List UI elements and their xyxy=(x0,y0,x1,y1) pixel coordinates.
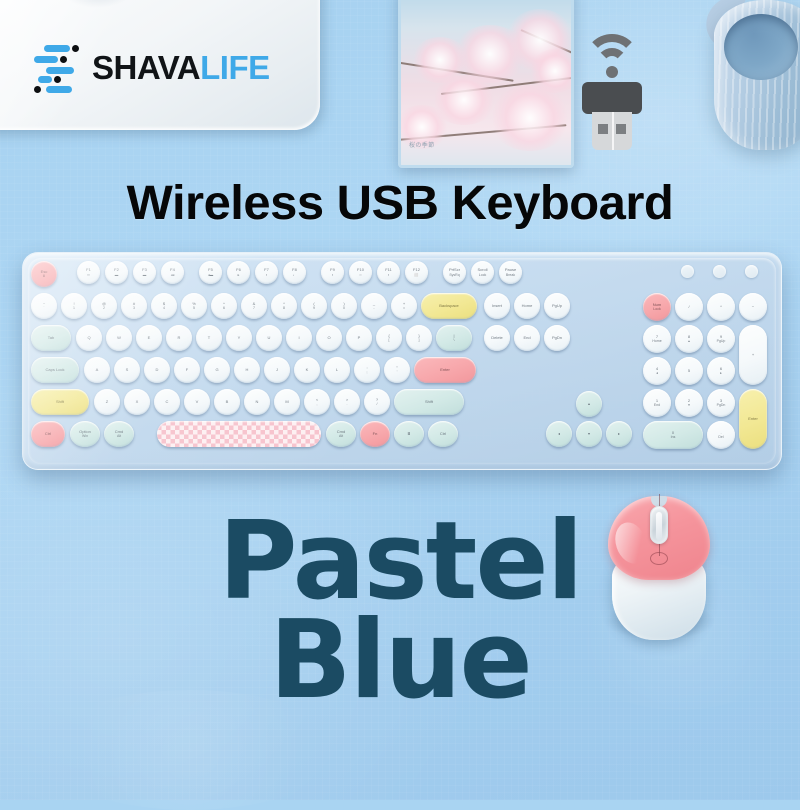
keycap-sublabel: Lock xyxy=(653,307,660,311)
key-n[interactable]: N xyxy=(244,389,270,415)
sakura-blossom xyxy=(489,85,571,151)
keycap-sublabel: 3 xyxy=(133,306,135,310)
key-tab[interactable]: Tab xyxy=(31,325,71,351)
key-k[interactable]: K xyxy=(294,357,320,383)
keycap-sublabel: 5 xyxy=(193,306,195,310)
numpad-key-num[interactable]: NumLock xyxy=(643,293,671,321)
keycap-label: R xyxy=(178,336,181,341)
dongle-pin-left xyxy=(598,124,608,134)
wireless-keyboard: Esc⬇F1▪▪F2▬F3▬F4◂◂F5◂▬F6▸F7▪F8♩F9▪F10▫▫F… xyxy=(22,252,782,470)
key-caps-lock[interactable]: Caps Lock xyxy=(31,357,79,383)
keycap-label: PgDn xyxy=(552,336,562,341)
keycap-label: F xyxy=(186,368,188,373)
keycap-sublabel: - xyxy=(373,306,374,310)
keycap-sublabel: ▪ xyxy=(266,273,267,277)
key-q[interactable]: Q xyxy=(76,325,102,351)
key-f12[interactable]: F12⬜ xyxy=(405,261,428,284)
keycap-sublabel: = xyxy=(403,306,405,310)
keycap-label: Backspace xyxy=(439,304,459,309)
keycap-label: W xyxy=(117,336,121,341)
keycap-label: / xyxy=(688,305,689,310)
keycap-label: V xyxy=(196,400,199,405)
keycap-sublabel: ▾ xyxy=(688,403,690,407)
numpad-key-key[interactable]: + xyxy=(739,325,767,385)
keycap-sublabel: ▫▫ xyxy=(359,273,361,277)
keycap-label: Tab xyxy=(48,336,54,341)
numpad-key-5[interactable]: 5 xyxy=(675,357,703,385)
keycap-sublabel: ⬜ xyxy=(414,273,418,277)
key-key[interactable]: )0 xyxy=(331,293,357,319)
keycap-label: S xyxy=(126,368,129,373)
key-key[interactable]: $4 xyxy=(151,293,177,319)
keycap-sublabel: ◂ xyxy=(656,371,658,375)
key-key[interactable]: ~` xyxy=(31,293,57,319)
keycap-label: Enter xyxy=(440,368,450,373)
keycap-sublabel: ` xyxy=(43,306,44,310)
keycap-label: ▾ xyxy=(588,432,590,437)
key-arrow-up[interactable]: ▴ xyxy=(576,391,602,417)
brand-name-primary: SHAVA xyxy=(92,49,200,86)
keycap-sublabel: 4 xyxy=(163,306,165,310)
key-f9[interactable]: F9▪ xyxy=(321,261,344,284)
wireless-usb-dongle-icon xyxy=(572,28,668,148)
key-key[interactable]: ?/ xyxy=(364,389,390,415)
keycap-sublabel: Ins xyxy=(671,435,676,439)
key-arrow-down[interactable]: ▾ xyxy=(576,421,602,447)
keycap-label: PgUp xyxy=(552,304,562,309)
numpad-key-0[interactable]: 0Ins xyxy=(643,421,703,449)
keycap-sublabel: ◂◂ xyxy=(171,273,175,277)
key-insert[interactable]: Insert xyxy=(484,293,510,319)
keycap-sublabel: ⬇ xyxy=(43,274,46,278)
brand-name-accent: LIFE xyxy=(200,49,270,86)
key-key[interactable]: @2 xyxy=(91,293,117,319)
numpad-key-8[interactable]: 8▴ xyxy=(675,325,703,353)
key-home[interactable]: Home xyxy=(514,293,540,319)
key-w[interactable]: W xyxy=(106,325,132,351)
key-shift[interactable]: Shift xyxy=(394,389,464,415)
dongle-pin-right xyxy=(616,124,626,134)
key-u[interactable]: U xyxy=(256,325,282,351)
key-key[interactable]: _- xyxy=(361,293,387,319)
key-cmd[interactable]: CmdAlt xyxy=(326,421,356,447)
key-z[interactable]: Z xyxy=(94,389,120,415)
key-pgdn[interactable]: PgDn xyxy=(544,325,570,351)
key-key[interactable]: ^6 xyxy=(211,293,237,319)
keycap-label: ▸ xyxy=(618,432,620,437)
keycap-label: Shift xyxy=(425,400,433,405)
ceramic-mug xyxy=(700,0,800,165)
keycap-sublabel: Lock xyxy=(479,273,486,277)
key-backspace[interactable]: Backspace xyxy=(421,293,477,319)
mug-interior xyxy=(724,14,798,80)
keycap-label: Caps Lock xyxy=(46,368,65,373)
keycap-label: A xyxy=(96,368,99,373)
numpad-key-7[interactable]: 7Home xyxy=(643,325,671,353)
led-indicator-1 xyxy=(681,265,694,278)
key-f1[interactable]: F1▪▪ xyxy=(77,261,100,284)
keycap-sublabel: Del xyxy=(718,435,723,439)
keycap-sublabel: , xyxy=(317,402,318,406)
key-scroll[interactable]: ScrollLock xyxy=(471,261,494,284)
key-delete[interactable]: Delete xyxy=(484,325,510,351)
key-h[interactable]: H xyxy=(234,357,260,383)
keycap-sublabel: ▪ xyxy=(332,273,333,277)
brand-logo: SHAVALIFE xyxy=(32,42,270,92)
numpad-key-1[interactable]: 1End xyxy=(643,389,671,417)
product-banner-stage: 桜の季節 SHAVALIFE Wireles xyxy=(0,0,800,800)
keycap-label: − xyxy=(752,305,754,310)
key-key[interactable]: *8 xyxy=(271,293,297,319)
keycap-label: K xyxy=(306,368,309,373)
keycap-label: Home xyxy=(522,304,533,309)
keycap-label: * xyxy=(720,305,722,310)
keycap-sublabel: ’ xyxy=(397,370,398,374)
keycap-label: End xyxy=(523,336,530,341)
wifi-dot-icon xyxy=(606,66,618,78)
led-indicator-2 xyxy=(713,265,726,278)
key-cmd[interactable]: CmdAlt xyxy=(104,421,134,447)
key-key[interactable]: (9 xyxy=(301,293,327,319)
keycap-label: Fn xyxy=(373,432,378,437)
key-b[interactable]: B xyxy=(214,389,240,415)
keycap-sublabel: ▸ xyxy=(720,371,722,375)
keycap-label: D xyxy=(156,368,159,373)
keycap-label: Shift xyxy=(56,400,64,405)
keycap-label: ▴ xyxy=(588,402,590,407)
keycap-label: Enter xyxy=(748,417,758,422)
keycap-label: Z xyxy=(106,400,108,405)
key-esc[interactable]: Esc⬇ xyxy=(31,261,57,287)
keycap-sublabel: . xyxy=(347,402,348,406)
keycap-label: M xyxy=(285,400,288,405)
numpad-key-4[interactable]: 4◂ xyxy=(643,357,671,385)
key-x[interactable]: X xyxy=(124,389,150,415)
key-key[interactable]: {[ xyxy=(376,325,402,351)
keycap-label: U xyxy=(268,336,271,341)
keycap-sublabel: ▴ xyxy=(688,339,690,343)
keycap-sublabel: ▪▪ xyxy=(87,273,89,277)
brand-wordmark: SHAVALIFE xyxy=(92,51,270,84)
numpad-key-enter[interactable]: Enter xyxy=(739,389,767,449)
key-f[interactable]: F xyxy=(174,357,200,383)
keycap-sublabel: 1 xyxy=(73,306,75,310)
key-r[interactable]: R xyxy=(166,325,192,351)
keycap-label: + xyxy=(752,353,754,358)
key-a[interactable]: A xyxy=(84,357,110,383)
key-fn[interactable]: Fn xyxy=(360,421,390,447)
key-arrow-right[interactable]: ▸ xyxy=(606,421,632,447)
key-key[interactable]: %5 xyxy=(181,293,207,319)
key-l[interactable]: L xyxy=(324,357,350,383)
key-ctrl[interactable]: Ctrl xyxy=(428,421,458,447)
key-t[interactable]: T xyxy=(196,325,222,351)
keycap-sublabel: ; xyxy=(367,370,368,374)
key-key[interactable]: >. xyxy=(334,389,360,415)
numpad-key-key[interactable]: * xyxy=(707,293,735,321)
key-prtscr[interactable]: PrtScrSysRq xyxy=(443,261,466,284)
key-key[interactable]: += xyxy=(391,293,417,319)
sakura-photo-card: 桜の季節 xyxy=(398,0,574,168)
dongle-body xyxy=(582,82,642,114)
key-f8[interactable]: F8♩ xyxy=(283,261,306,284)
keycap-sublabel: 6 xyxy=(223,306,225,310)
sakura-card-caption: 桜の季節 xyxy=(409,142,435,151)
key-enter[interactable]: Enter xyxy=(414,357,476,383)
key-c[interactable]: C xyxy=(154,389,180,415)
keycap-label: 5 xyxy=(688,369,690,374)
sakura-blossom xyxy=(529,49,574,93)
keycap-sublabel: 2 xyxy=(103,306,105,310)
keycap-label: Ctrl xyxy=(440,432,446,437)
keycap-label: J xyxy=(276,368,278,373)
keycap-sublabel: \ xyxy=(454,338,455,342)
key-f3[interactable]: F3▬ xyxy=(133,261,156,284)
keycap-label: X xyxy=(136,400,139,405)
keycap-label: G xyxy=(215,368,218,373)
key-g[interactable]: G xyxy=(204,357,230,383)
key-key[interactable]: ⌸ xyxy=(394,421,424,447)
keycap-sublabel: Win xyxy=(82,434,88,438)
key-p[interactable]: P xyxy=(346,325,372,351)
keycap-label: O xyxy=(327,336,330,341)
numpad-key-3[interactable]: 3PgDn xyxy=(707,389,735,417)
keycap-sublabel: ] xyxy=(419,338,420,342)
key-f4[interactable]: F4◂◂ xyxy=(161,261,184,284)
keycap-sublabel: ♩ xyxy=(293,273,297,277)
keycap-label: T xyxy=(208,336,210,341)
color-variant-caption: Pastel Blue xyxy=(0,512,800,711)
key-s[interactable]: S xyxy=(114,357,140,383)
keycap-label: Q xyxy=(87,336,90,341)
key-f10[interactable]: F10▫▫ xyxy=(349,261,372,284)
keycap-sublabel: ▸ xyxy=(238,273,240,277)
key-i[interactable]: I xyxy=(286,325,312,351)
keycap-sublabel: Break xyxy=(506,273,515,277)
numpad-key-key[interactable]: / xyxy=(675,293,703,321)
key-key[interactable]: }] xyxy=(406,325,432,351)
keycap-sublabel: PgUp xyxy=(717,339,726,343)
numpad-key-6[interactable]: 6▸ xyxy=(707,357,735,385)
keycap-label: ⌸ xyxy=(408,432,410,437)
keycap-label: ◂ xyxy=(558,432,560,437)
keycap-sublabel: 9 xyxy=(313,306,315,310)
key-j[interactable]: J xyxy=(264,357,290,383)
keycap-sublabel: 8 xyxy=(283,306,285,310)
key-pgup[interactable]: PgUp xyxy=(544,293,570,319)
key-f2[interactable]: F2▬ xyxy=(105,261,128,284)
key-end[interactable]: End xyxy=(514,325,540,351)
key-key[interactable]: ”’ xyxy=(384,357,410,383)
numpad-key-key[interactable]: .Del xyxy=(707,421,735,449)
led-indicator-3 xyxy=(745,265,758,278)
caption-line-1: Pastel xyxy=(0,512,800,611)
keycap-label: E xyxy=(148,336,151,341)
key-key[interactable]: <, xyxy=(304,389,330,415)
page-title: Wireless USB Keyboard xyxy=(0,176,800,231)
keycap-label: Y xyxy=(238,336,241,341)
keycap-label: B xyxy=(226,400,229,405)
key-f6[interactable]: F6▸ xyxy=(227,261,250,284)
key-key[interactable]: :; xyxy=(354,357,380,383)
keycap-sublabel: Alt xyxy=(117,434,121,438)
key-ctrl[interactable]: Ctrl xyxy=(31,421,65,447)
key-pause[interactable]: PauseBreak xyxy=(499,261,522,284)
keycap-label: H xyxy=(246,368,249,373)
keycap-sublabel: End xyxy=(654,403,660,407)
keycap-sublabel: Alt xyxy=(339,434,343,438)
keycap-label: N xyxy=(256,400,259,405)
key-space[interactable] xyxy=(157,421,321,447)
key-e[interactable]: E xyxy=(136,325,162,351)
keycap-sublabel: Home xyxy=(652,339,661,343)
key-d[interactable]: D xyxy=(144,357,170,383)
keycap-sublabel: ◂▬ xyxy=(208,273,213,277)
keycap-sublabel: PgDn xyxy=(717,403,726,407)
key-v[interactable]: V xyxy=(184,389,210,415)
numpad-key-key[interactable]: − xyxy=(739,293,767,321)
key-f7[interactable]: F7▪ xyxy=(255,261,278,284)
key-shift[interactable]: Shift xyxy=(31,389,89,415)
numpad-key-2[interactable]: 2▾ xyxy=(675,389,703,417)
key-key[interactable]: #3 xyxy=(121,293,147,319)
keycap-label: Insert xyxy=(492,304,502,309)
keycap-sublabel: 7 xyxy=(253,306,255,310)
speed-lines-icon xyxy=(32,42,78,92)
keycap-label: I xyxy=(298,336,299,341)
key-key[interactable]: !1 xyxy=(61,293,87,319)
keycap-sublabel: ▬ xyxy=(115,273,119,277)
keycap-label: P xyxy=(358,336,361,341)
key-key[interactable]: &7 xyxy=(241,293,267,319)
keycap-sublabel: / xyxy=(377,402,378,406)
key-y[interactable]: Y xyxy=(226,325,252,351)
keycap-label: Ctrl xyxy=(45,432,51,437)
caption-line-2: Blue xyxy=(0,611,800,710)
key-option[interactable]: OptionWin xyxy=(70,421,100,447)
keycap-label: C xyxy=(166,400,169,405)
key-f11[interactable]: F11▪ xyxy=(377,261,400,284)
keycap-sublabel: [ xyxy=(389,338,390,342)
key-o[interactable]: O xyxy=(316,325,342,351)
key-key[interactable]: |\ xyxy=(436,325,472,351)
key-m[interactable]: M xyxy=(274,389,300,415)
keycap-sublabel: ▪ xyxy=(388,273,389,277)
key-f5[interactable]: F5◂▬ xyxy=(199,261,222,284)
numpad-key-9[interactable]: 9PgUp xyxy=(707,325,735,353)
keycap-sublabel: SysRq xyxy=(449,273,459,277)
keycap-label: L xyxy=(336,368,338,373)
keycap-sublabel: ▬ xyxy=(143,273,147,277)
keycap-sublabel: 0 xyxy=(343,306,345,310)
key-arrow-left[interactable]: ◂ xyxy=(546,421,572,447)
keycap-label: Delete xyxy=(491,336,503,341)
